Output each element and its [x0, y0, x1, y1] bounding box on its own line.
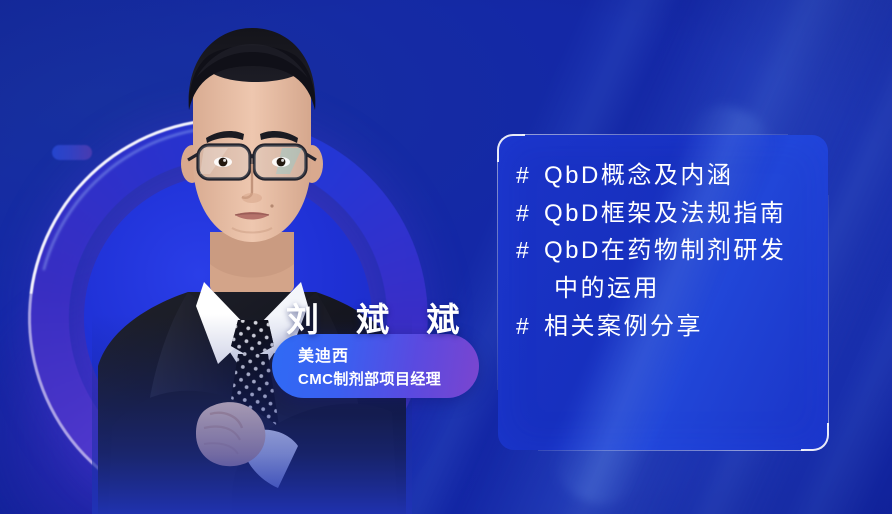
hash-icon: # — [516, 161, 544, 190]
topic-item: # QbD在药物制剂研发 — [516, 236, 820, 267]
topic-label: QbD在药物制剂研发 — [544, 236, 786, 267]
speaker-role-pill: 美迪西 CMC制剂部项目经理 — [272, 334, 479, 398]
topic-item: # QbD概念及内涵 — [516, 161, 820, 192]
speaker-portrait — [92, 14, 412, 514]
topic-item: # QbD框架及法规指南 — [516, 199, 820, 230]
hash-icon: # — [516, 236, 544, 265]
topic-label: 相关案例分享 — [544, 312, 703, 343]
topic-label: QbD概念及内涵 — [544, 161, 733, 192]
hash-icon: # — [516, 312, 544, 341]
hash-icon: # — [516, 199, 544, 228]
topics-list: # QbD概念及内涵 # QbD框架及法规指南 # QbD在药物制剂研发 # 中… — [516, 161, 820, 350]
speaker-company: 美迪西 — [298, 342, 349, 366]
panel-edge-left — [497, 159, 498, 390]
speaker-name: 刘 斌 斌 — [286, 293, 473, 341]
topics-panel: # QbD概念及内涵 # QbD框架及法规指南 # QbD在药物制剂研发 # 中… — [498, 135, 828, 450]
topic-item-continuation: # 中的运用 — [516, 274, 820, 305]
promo-banner: 刘 斌 斌 美迪西 CMC制剂部项目经理 # QbD概念及内涵 # QbD框架及… — [0, 0, 892, 514]
speaker-title: CMC制剂部项目经理 — [298, 368, 441, 389]
portrait-illustration — [92, 14, 412, 514]
topic-label: QbD框架及法规指南 — [544, 199, 786, 230]
decorative-pill — [52, 145, 92, 160]
topic-item: # 相关案例分享 — [516, 312, 820, 343]
topic-label: 中的运用 — [544, 274, 660, 305]
